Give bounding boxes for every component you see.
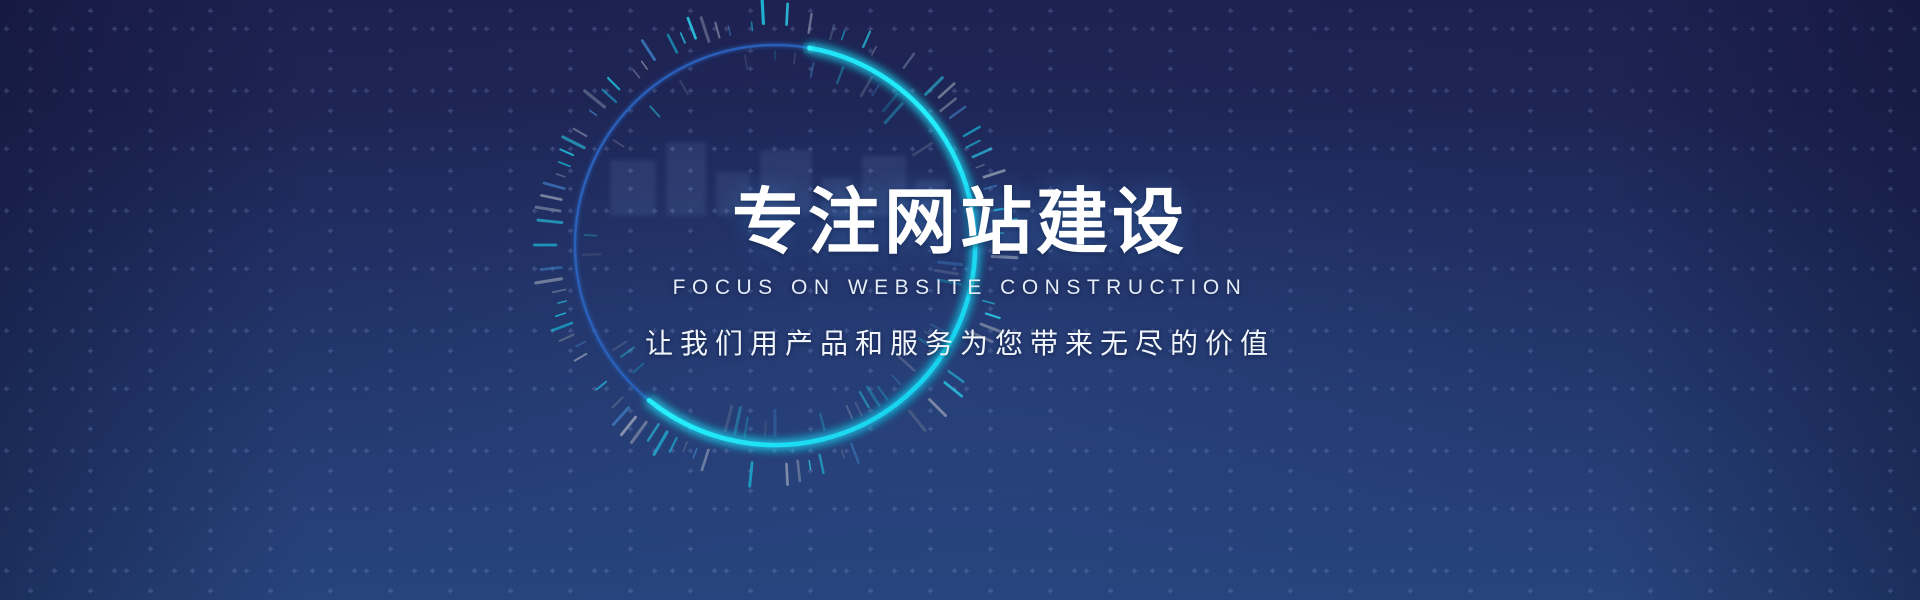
ring-tick — [752, 22, 753, 30]
ring-tick — [990, 233, 1003, 234]
ring-tick — [725, 406, 732, 430]
ring-tick — [949, 371, 963, 382]
ring-tick — [811, 63, 814, 77]
ring-tick — [940, 99, 955, 111]
ring-tick — [981, 324, 1003, 332]
ring-tick — [986, 314, 1000, 319]
ring-tick — [556, 174, 564, 177]
page-title: 专注网站建设 — [732, 186, 1188, 258]
ring-tick — [621, 348, 634, 357]
ring-tick — [608, 78, 619, 89]
ring-tick — [926, 78, 943, 95]
ring-tick — [794, 53, 795, 64]
ring-tick — [688, 18, 696, 38]
ring-tick — [994, 208, 1011, 211]
ring-tick — [855, 403, 862, 416]
ring-tick — [541, 267, 561, 269]
ring-tick — [914, 143, 932, 155]
banner-text-block: 专注网站建设 FOCUS ON WEBSITE CONSTRUCTION 让我们… — [0, 0, 1920, 600]
ring-tick — [642, 61, 648, 69]
tagline-chinese: 让我们用产品和服务为您带来无尽的价值 — [645, 322, 1275, 362]
ring-tick — [973, 149, 991, 157]
ring-tick-marks — [534, 0, 1017, 486]
ring-tick — [820, 414, 824, 430]
ring-tick — [786, 464, 787, 485]
ring-tick — [904, 54, 914, 68]
ring-tick — [633, 70, 639, 78]
ring-tick — [541, 195, 561, 199]
arc-start-cap — [807, 45, 812, 50]
ring-tick — [984, 199, 992, 201]
ring-tick — [884, 94, 897, 111]
ring-tick — [702, 450, 708, 470]
ring-tick — [590, 110, 597, 115]
ring-tick — [583, 254, 601, 255]
ring-tick — [681, 33, 685, 43]
ring-tick — [603, 90, 616, 102]
ring-tick — [575, 354, 587, 361]
ring-tick — [614, 140, 624, 146]
ring-tick — [683, 442, 687, 451]
ring-tick — [798, 461, 800, 481]
ring-tick — [931, 324, 943, 330]
ring-tick — [861, 78, 871, 96]
ring-tick — [872, 86, 879, 96]
ring-tick — [842, 31, 845, 40]
ring-tick — [878, 387, 887, 399]
ring-tick — [613, 397, 623, 407]
ring-tick — [842, 450, 845, 458]
ring-tick — [633, 364, 643, 373]
ring-tick — [574, 129, 587, 136]
ring-tick — [544, 183, 564, 188]
ring-tick — [538, 220, 562, 222]
ring-tick — [938, 262, 961, 264]
ring-tick — [585, 91, 605, 107]
ring-tick — [984, 171, 1004, 178]
ring-tick — [787, 4, 788, 25]
ring-tick — [809, 461, 810, 470]
ring-tick — [992, 256, 1017, 257]
ring-tick — [809, 14, 812, 33]
ring-tick — [950, 107, 965, 118]
ring-tick — [728, 26, 730, 35]
ring-tick — [536, 207, 560, 211]
ring-tick — [984, 186, 996, 189]
ring-tick — [847, 406, 853, 419]
ring-tick — [560, 149, 573, 155]
hero-banner: 专注网站建设 FOCUS ON WEBSITE CONSTRUCTION 让我们… — [0, 0, 1920, 600]
ring-tick — [971, 332, 992, 341]
background-dot-grid — [0, 0, 1920, 600]
ring-tick — [966, 141, 979, 148]
ring-bright-arc — [649, 48, 975, 445]
ring-tick — [648, 424, 658, 440]
ring-tick — [762, 0, 763, 23]
ring-tick — [536, 279, 562, 283]
ring-tick — [735, 408, 740, 433]
ring-tick — [993, 220, 1016, 222]
ring-tick — [899, 357, 914, 370]
ring-tick — [584, 235, 596, 236]
ring-tick — [631, 422, 646, 442]
ring-tick — [851, 444, 858, 462]
ring-tick — [863, 32, 870, 47]
ring-tick — [745, 55, 747, 68]
ring-tick — [910, 411, 925, 430]
ring-tick — [925, 332, 935, 338]
ring-tick — [820, 455, 824, 473]
ring-tick — [976, 165, 984, 168]
ring-tick — [930, 400, 946, 416]
ring-tick — [701, 18, 709, 42]
ring-tick — [613, 408, 628, 425]
ring-tick — [650, 106, 659, 116]
ring-tick — [621, 417, 635, 435]
ring-tick — [613, 342, 626, 350]
subtitle-english: FOCUS ON WEBSITE CONSTRUCTION — [673, 276, 1248, 300]
ring-tick — [563, 137, 584, 148]
ring-tick — [837, 67, 843, 83]
ring-tick — [939, 84, 954, 98]
ring-tick — [597, 382, 607, 390]
ring-tick — [750, 463, 752, 486]
ring-tick — [892, 375, 900, 384]
ring-tick — [654, 432, 667, 454]
ring-tick — [935, 270, 958, 274]
ring-tick — [559, 162, 570, 166]
ring-tick — [867, 387, 879, 405]
ring-tick — [885, 104, 902, 123]
ring-tick — [668, 35, 677, 52]
ring-tick — [830, 25, 834, 39]
ring-tick — [715, 23, 719, 38]
ring-tick — [558, 301, 566, 303]
ring-tick — [964, 127, 980, 136]
ring-tick — [938, 280, 960, 285]
ring-tick — [693, 449, 697, 458]
ring-tick — [680, 81, 688, 94]
ring-tick — [945, 383, 962, 397]
ring-tick — [860, 392, 869, 407]
ring-tick — [670, 438, 677, 452]
ring-tick — [919, 339, 937, 350]
ring-tick — [560, 335, 574, 341]
ring-tick — [983, 301, 994, 304]
ring-dim-circle — [575, 45, 975, 445]
ring-tick — [642, 41, 654, 60]
ring-tick — [765, 421, 766, 437]
ghost-tech-graphic — [600, 120, 960, 240]
ring-tick — [576, 342, 585, 347]
ring-tick — [553, 290, 566, 293]
ring-tick — [745, 418, 748, 436]
ring-tick — [552, 323, 572, 331]
ring-tick — [556, 313, 566, 316]
ring-tick — [872, 46, 876, 54]
